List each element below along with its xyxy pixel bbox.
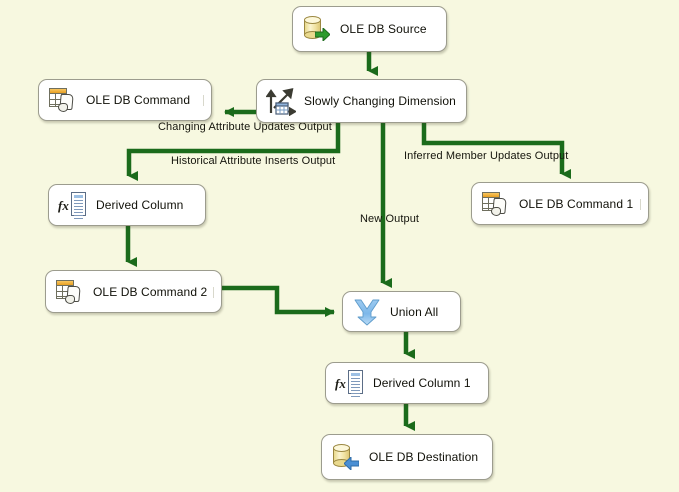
node-union-all[interactable]: Union All [342, 291, 461, 332]
node-label: Derived Column [96, 198, 183, 212]
node-label: Union All [390, 305, 438, 319]
node-ole-db-command-1[interactable]: OLE DB Command 1 [471, 182, 649, 225]
data-flow-canvas: Changing Attribute Updates Output Histor… [0, 0, 679, 492]
node-ole-db-destination[interactable]: OLE DB Destination [321, 434, 493, 480]
node-label: Slowly Changing Dimension [304, 94, 456, 108]
database-in-icon [331, 442, 361, 472]
blue-arrow-in [344, 457, 359, 470]
database-out-icon [302, 14, 332, 44]
node-ole-db-source[interactable]: OLE DB Source [292, 6, 447, 52]
node-tail-tick [213, 287, 214, 298]
node-label: Derived Column 1 [373, 376, 471, 390]
node-label: OLE DB Source [340, 22, 427, 36]
node-tail-tick [640, 199, 641, 210]
scd-icon [266, 86, 296, 116]
node-tail-tick [203, 95, 204, 106]
ole-db-command-icon [48, 85, 78, 115]
node-label: OLE DB Destination [369, 450, 478, 464]
node-label: OLE DB Command 2 [93, 285, 207, 299]
node-label: OLE DB Command [86, 93, 190, 107]
node-derived-column[interactable]: fx Derived Column [48, 184, 206, 226]
ole-db-command-icon [55, 277, 85, 307]
edge-label-new-output: New Output [360, 213, 419, 226]
node-ole-db-command[interactable]: OLE DB Command [38, 79, 212, 121]
node-derived-column-1[interactable]: fx Derived Column 1 [325, 362, 489, 404]
union-all-icon [352, 297, 382, 327]
edge-scd-to-ole-db-command-1 [424, 123, 562, 174]
edge-label-inferred-member-updates-output: Inferred Member Updates Output [404, 150, 568, 163]
derived-column-icon: fx [335, 368, 365, 398]
edge-label-historical-attribute-inserts-output: Historical Attribute Inserts Output [171, 155, 335, 168]
node-ole-db-command-2[interactable]: OLE DB Command 2 [45, 270, 222, 313]
node-slowly-changing-dimension[interactable]: Slowly Changing Dimension [256, 79, 467, 123]
connector-layer [0, 0, 679, 492]
ole-db-command-icon [481, 189, 511, 219]
derived-column-icon: fx [58, 190, 88, 220]
edge-command-2-to-union-all [222, 288, 334, 312]
node-label: OLE DB Command 1 [519, 197, 633, 211]
green-arrow-out [315, 28, 330, 41]
